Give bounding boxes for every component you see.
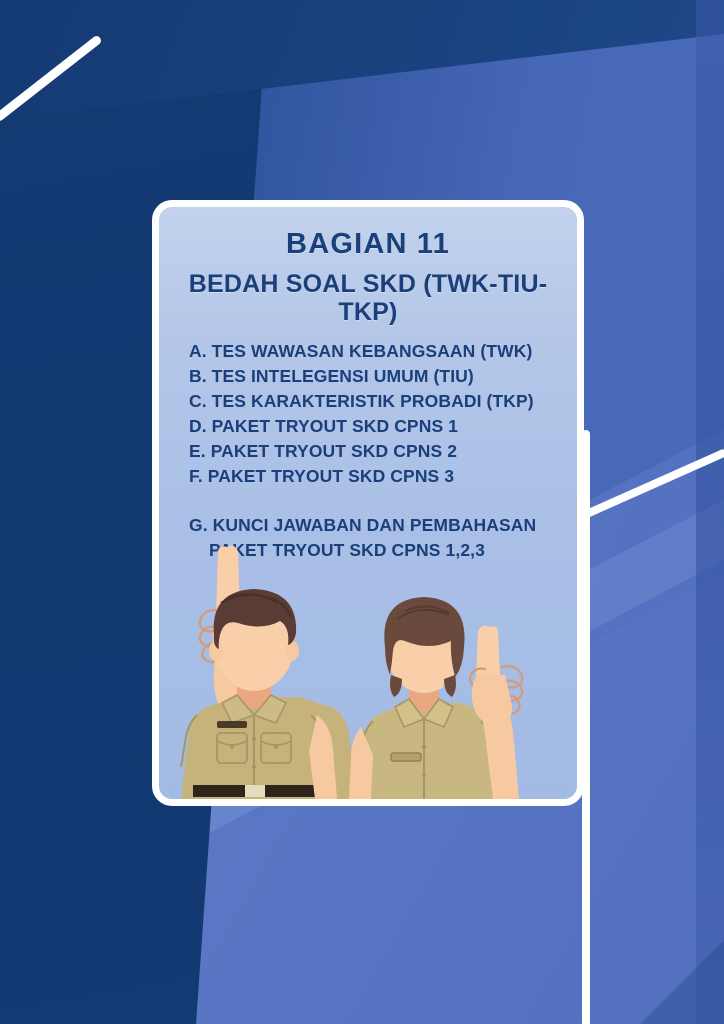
list-item-label: B. TES INTELEGENSI UMUM (TIU) xyxy=(189,366,474,386)
page-title: BAGIAN 11 xyxy=(175,229,561,259)
list-item-label: F. PAKET TRYOUT SKD CPNS 3 xyxy=(189,466,454,486)
list-item-label: D. PAKET TRYOUT SKD CPNS 1 xyxy=(189,416,458,436)
female-pointing-hand xyxy=(470,626,522,726)
list-item: D. PAKET TRYOUT SKD CPNS 1 xyxy=(189,414,561,439)
list-item: E. PAKET TRYOUT SKD CPNS 2 xyxy=(189,439,561,464)
list-item: C. TES KARAKTERISTIK PROBADI (TKP) xyxy=(189,389,561,414)
list-item: A. TES WAWASAN KEBANGSAAN (TWK) xyxy=(189,339,561,364)
poster-canvas: BAGIAN 11 BEDAH SOAL SKD (TWK-TIU-TKP) A… xyxy=(0,0,724,1024)
card-header: BAGIAN 11 BEDAH SOAL SKD (TWK-TIU-TKP) xyxy=(159,207,577,326)
list-item-label: C. TES KARAKTERISTIK PROBADI (TKP) xyxy=(189,391,534,411)
list-item: B. TES INTELEGENSI UMUM (TIU) xyxy=(189,364,561,389)
list-item-label: E. PAKET TRYOUT SKD CPNS 2 xyxy=(189,441,457,461)
list-item-label: A. TES WAWASAN KEBANGSAAN (TWK) xyxy=(189,341,532,361)
page-subtitle: BEDAH SOAL SKD (TWK-TIU-TKP) xyxy=(175,271,561,326)
civil-servants-illustration xyxy=(159,499,577,799)
list-item: F. PAKET TRYOUT SKD CPNS 3 xyxy=(189,464,561,489)
content-card: BAGIAN 11 BEDAH SOAL SKD (TWK-TIU-TKP) A… xyxy=(152,200,584,806)
